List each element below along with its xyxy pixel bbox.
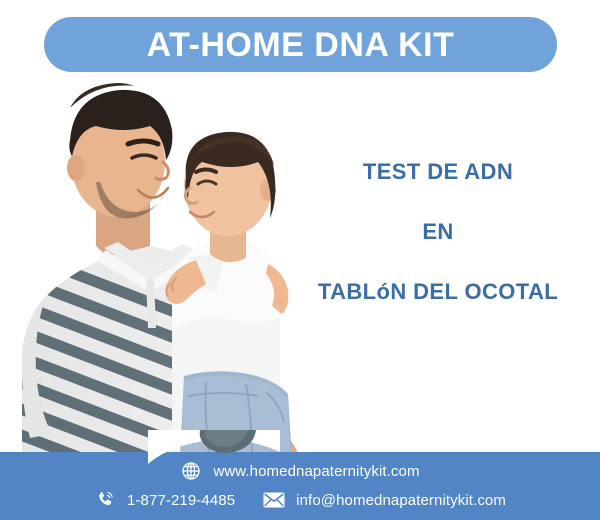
- footer-row-contact: 1-877-219-4485 info@homednapaternitykit.…: [0, 489, 600, 511]
- heading-line-1: TEST DE ADN: [288, 160, 588, 184]
- phone-icon: [94, 489, 116, 511]
- footer-bar: www.homednapaternitykit.com 1-877-219-44…: [0, 452, 600, 520]
- email-item[interactable]: info@homednapaternitykit.com: [263, 489, 506, 511]
- headings-block: TEST DE ADN EN TABLóN DEL OCOTAL: [288, 160, 588, 305]
- phone-item[interactable]: 1-877-219-4485: [94, 489, 235, 511]
- email-label: info@homednapaternitykit.com: [296, 493, 506, 508]
- header-title: AT-HOME DNA KIT: [147, 28, 455, 62]
- poster-canvas: AT-HOME DNA KIT: [0, 0, 600, 520]
- heading-line-2: EN: [288, 220, 588, 244]
- globe-icon: [180, 460, 202, 482]
- website-label: www.homednapaternitykit.com: [213, 464, 419, 479]
- family-photo: [0, 78, 320, 460]
- heading-line-3: TABLóN DEL OCOTAL: [288, 280, 588, 304]
- envelope-icon: [263, 489, 285, 511]
- phone-label: 1-877-219-4485: [127, 493, 235, 508]
- website-item[interactable]: www.homednapaternitykit.com: [180, 460, 419, 482]
- header-banner: AT-HOME DNA KIT: [44, 17, 557, 72]
- footer-row-website: www.homednapaternitykit.com: [0, 460, 600, 482]
